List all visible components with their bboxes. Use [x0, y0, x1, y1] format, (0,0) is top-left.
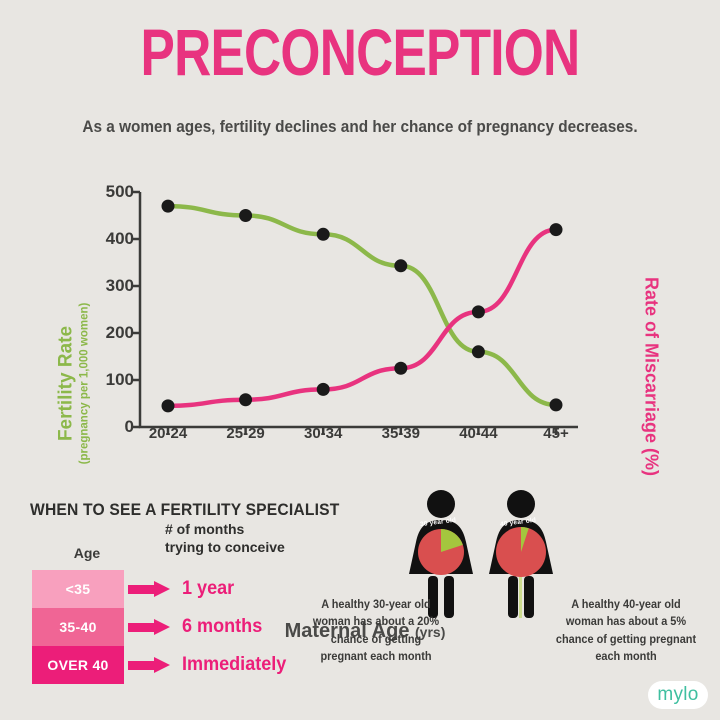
- specialist-age-cell: OVER 40: [32, 646, 124, 684]
- y-axis-label-left-main: Fertility Rate: [56, 269, 78, 499]
- figure-caption-30: A healthy 30-year old woman has about a …: [310, 597, 443, 666]
- specialist-age-cell: <35: [32, 570, 124, 608]
- specialist-header-months-line2: trying to conceive: [165, 539, 315, 557]
- figure-leg-right-30: [444, 576, 454, 618]
- figure-leg-accent-40: [519, 576, 522, 618]
- chart-series-lines: [168, 206, 556, 406]
- y-tick-label: 0: [88, 417, 134, 437]
- arrow-right-icon: [128, 619, 172, 635]
- chart-axes: [140, 192, 578, 427]
- y-tick-label: 500: [88, 182, 134, 202]
- specialist-header-age: Age: [42, 545, 132, 561]
- specialist-age-rows: <3535-40OVER 40: [32, 570, 124, 684]
- y-tick-label: 400: [88, 229, 134, 249]
- x-tick-label: 20-24: [149, 425, 187, 442]
- specialist-header-months-line1: # of months: [165, 521, 315, 539]
- x-tick-label: 35-39: [382, 425, 420, 442]
- specialist-answer-text: Immediately: [182, 654, 286, 676]
- data-point: [472, 305, 485, 318]
- arrow-right-icon: [128, 657, 172, 673]
- data-point: [162, 200, 175, 213]
- figure-head-30: [427, 490, 455, 518]
- data-point: [239, 393, 252, 406]
- data-point: [317, 228, 330, 241]
- figure-leg-right-40: [524, 576, 534, 618]
- specialist-answer-text: 6 months: [182, 616, 262, 638]
- y-tick-label: 300: [88, 276, 134, 296]
- pie-chart-30: [418, 529, 464, 575]
- specialist-answer-text: 1 year: [182, 578, 234, 600]
- x-tick-label: 45+: [543, 425, 568, 442]
- data-point: [162, 399, 175, 412]
- data-point: [239, 209, 252, 222]
- data-point: [394, 259, 407, 272]
- y-axis-label-left: Fertility Rate (pregnancy per 1,000 wome…: [56, 269, 91, 499]
- specialist-section-title: WHEN TO SEE A FERTILITY SPECIALIST: [30, 500, 340, 520]
- data-point: [317, 383, 330, 396]
- pie-chart-40: [496, 527, 546, 577]
- x-tick-label: 30-34: [304, 425, 342, 442]
- arrow-right-icon: [128, 581, 172, 597]
- specialist-answer-row: 6 months: [128, 608, 328, 646]
- series-line-rate-of-miscarriage: [168, 230, 556, 406]
- y-axis-label-right: Rate of Miscarriage (%): [641, 262, 662, 492]
- data-point: [472, 345, 485, 358]
- x-tick-label: 40-44: [459, 425, 497, 442]
- fertility-miscarriage-chart: 0100200300400500 20-2425-2930-3435-3940-…: [0, 170, 720, 480]
- y-axis-label-left-sub: (pregnancy per 1,000 women): [79, 269, 91, 499]
- infographic-page: PRECONCEPTION As a women ages, fertility…: [0, 0, 720, 720]
- specialist-answer-row: Immediately: [128, 646, 328, 684]
- specialist-answer-row: 1 year: [128, 570, 328, 608]
- data-point: [550, 398, 563, 411]
- specialist-header-months: # of months trying to conceive: [165, 521, 315, 557]
- page-title: PRECONCEPTION: [79, 18, 641, 87]
- y-axis-tick-labels: 0100200300400500: [88, 170, 134, 480]
- figure-head-40: [507, 490, 535, 518]
- figure-leg-left-40: [508, 576, 518, 618]
- data-point: [550, 223, 563, 236]
- data-point: [394, 362, 407, 375]
- y-tick-label: 200: [88, 323, 134, 343]
- y-tick-label: 100: [88, 370, 134, 390]
- page-subtitle: As a women ages, fertility declines and …: [25, 118, 695, 137]
- specialist-age-cell: 35-40: [32, 608, 124, 646]
- x-tick-label: 25-29: [226, 425, 264, 442]
- mylo-logo[interactable]: mylo: [648, 681, 708, 709]
- specialist-answer-rows: 1 year6 monthsImmediately: [128, 570, 328, 684]
- figure-40-year-old: [489, 490, 553, 618]
- figure-caption-40: A healthy 40-year old woman has about a …: [554, 597, 698, 666]
